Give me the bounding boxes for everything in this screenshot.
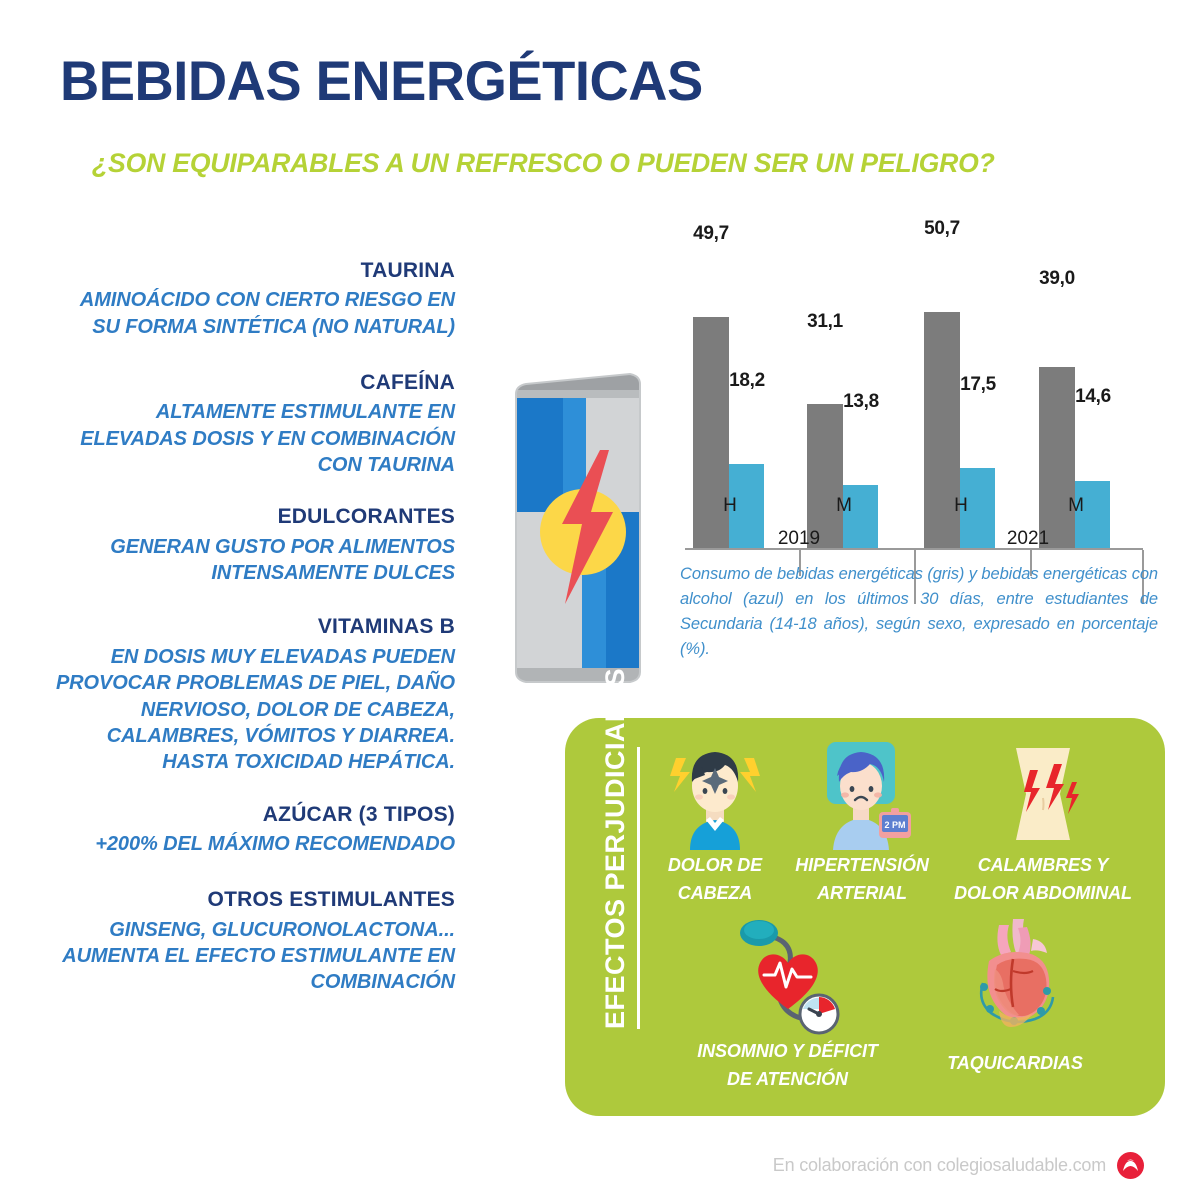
ingredient-description: +200% DEL MÁXIMO RECOMENDADO xyxy=(55,831,455,857)
hypertension-person-icon: 2 PM xyxy=(773,732,951,852)
effect-item-insomnia: INSOMNIO Y DÉFICIT DE ATENCIÓN xyxy=(675,918,900,1094)
bar-gray-2019-h xyxy=(693,317,729,550)
effect-label: CABEZA xyxy=(635,880,795,908)
ingredient-title: VITAMINAS B xyxy=(55,614,455,640)
ingredient-item-cafeina: CAFEÍNA ALTAMENTE ESTIMULANTE EN ELEVADA… xyxy=(55,370,455,478)
colegiosaludable-logo-icon[interactable] xyxy=(1117,1152,1144,1179)
effect-label: HIPERTENSIÓN xyxy=(773,852,951,880)
abdominal-cramps-icon xyxy=(943,732,1143,852)
page-subtitle: ¿SON EQUIPARABLES A UN REFRESCO O PUEDEN… xyxy=(92,148,995,179)
ingredient-item-edulcorantes: EDULCORANTES GENERAN GUSTO POR ALIMENTOS… xyxy=(55,504,455,586)
infographic-page: BEBIDAS ENERGÉTICAS ¿SON EQUIPARABLES A … xyxy=(0,0,1200,1200)
footer-collaboration-text: En colaboración con colegiosaludable.com xyxy=(773,1155,1106,1176)
ingredient-item-otros-estimulantes: OTROS ESTIMULANTES GINSENG, GLUCURONOLAC… xyxy=(55,887,455,995)
ingredient-item-azucar: AZÚCAR (3 TIPOS) +200% DEL MÁXIMO RECOME… xyxy=(55,802,455,858)
harmful-effects-panel: EFECTOS PERJUDICIALES xyxy=(565,718,1165,1116)
effect-item-hypertension: 2 PM HIPERTENSIÓN ARTERIAL xyxy=(773,732,951,908)
ingredients-list: TAURINA AMINOÁCIDO CON CIERTO RIESGO EN … xyxy=(55,258,455,996)
clock-badge-text: 2 PM xyxy=(884,820,905,830)
effect-label: CALAMBRES Y xyxy=(943,852,1143,880)
effect-label: TAQUICARDIAS xyxy=(920,1050,1110,1078)
heart-anatomy-icon xyxy=(920,918,1110,1038)
effect-item-tachycardia: TAQUICARDIAS xyxy=(920,918,1110,1078)
ingredient-description: GINSENG, GLUCURONOLACTONA... AUMENTA EL … xyxy=(55,917,455,996)
ingredient-title: TAURINA xyxy=(55,258,455,284)
ingredient-title: OTROS ESTIMULANTES xyxy=(55,887,455,913)
effects-panel-vertical-title: EFECTOS PERJUDICIALES xyxy=(600,747,640,1029)
ingredient-description: AMINOÁCIDO CON CIERTO RIESGO EN SU FORMA… xyxy=(55,287,455,340)
ingredient-item-vitaminas-b: VITAMINAS B EN DOSIS MUY ELEVADAS PUEDEN… xyxy=(55,614,455,775)
bar-blue-2019-h xyxy=(729,464,764,550)
headache-person-icon xyxy=(635,732,795,852)
bar-value-label: 49,7 xyxy=(677,223,745,245)
effect-label: DOLOR DE xyxy=(635,852,795,880)
ingredient-description: ALTAMENTE ESTIMULANTE EN ELEVADAS DOSIS … xyxy=(55,399,455,478)
effect-label: ARTERIAL xyxy=(773,880,951,908)
ingredient-description: GENERAN GUSTO POR ALIMENTOS INTENSAMENTE… xyxy=(55,534,455,587)
ingredient-title: AZÚCAR (3 TIPOS) xyxy=(55,802,455,828)
effect-label: DE ATENCIÓN xyxy=(675,1066,900,1094)
effect-item-cramps: CALAMBRES Y DOLOR ABDOMINAL xyxy=(943,732,1143,908)
bar-value-label: 13,8 xyxy=(827,391,895,413)
ingredient-description: EN DOSIS MUY ELEVADAS PUEDEN PROVOCAR PR… xyxy=(55,644,455,776)
bar-value-label: 14,6 xyxy=(1059,386,1127,408)
effect-label: INSOMNIO Y DÉFICIT xyxy=(675,1038,900,1066)
consumption-bar-chart: 49,7 18,2 31,1 13,8 50,7 17,5 39,0 14,6 xyxy=(668,205,1168,550)
bar-blue-2021-h xyxy=(960,468,995,550)
bar-value-label: 17,5 xyxy=(944,374,1012,396)
energy-drink-can-illustration xyxy=(508,372,658,694)
effect-item-headache: DOLOR DE CABEZA xyxy=(635,732,795,908)
footer: En colaboración con colegiosaludable.com xyxy=(0,1152,1200,1179)
chart-caption: Consumo de bebidas energéticas (gris) y … xyxy=(680,562,1158,662)
bar-value-label: 31,1 xyxy=(791,311,859,333)
bar-value-label: 50,7 xyxy=(908,218,976,240)
bar-gray-2019-m xyxy=(807,404,843,550)
bar-blue-2019-m xyxy=(843,485,878,550)
bar-value-label: 18,2 xyxy=(713,370,781,392)
ingredient-item-taurina: TAURINA AMINOÁCIDO CON CIERTO RIESGO EN … xyxy=(55,258,455,340)
blood-pressure-heart-icon xyxy=(675,918,900,1038)
bar-value-label: 39,0 xyxy=(1023,268,1091,290)
page-title: BEBIDAS ENERGÉTICAS xyxy=(60,52,703,111)
ingredient-title: EDULCORANTES xyxy=(55,504,455,530)
bar-gray-2021-h xyxy=(924,312,960,550)
ingredient-title: CAFEÍNA xyxy=(55,370,455,396)
bar-blue-2021-m xyxy=(1075,481,1110,550)
effect-label: DOLOR ABDOMINAL xyxy=(943,880,1143,908)
